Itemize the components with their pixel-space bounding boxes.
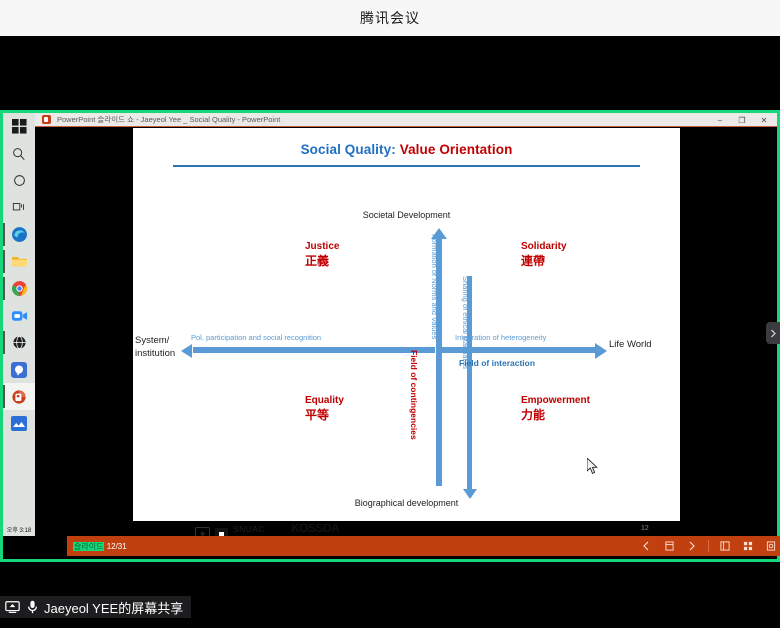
down-arrow-head (463, 489, 477, 499)
zoom-button[interactable] (3, 302, 35, 329)
cortana-button[interactable] (3, 167, 35, 194)
edge-browser-icon (11, 226, 28, 243)
presenter-notes-button[interactable] (715, 538, 735, 554)
shared-desktop: 오후 3:18 PowerPoint 슬라이드 쇼 - Jaeyeol Yee … (3, 113, 777, 559)
messenger-button[interactable] (3, 356, 35, 383)
slide-title-primary: Social Quality: (301, 142, 396, 157)
chat-app-icon (11, 362, 27, 378)
close-button[interactable]: ✕ (753, 113, 775, 127)
slide-counter-area: 슬라이드 12/31 (73, 541, 127, 552)
quadrant-justice: Justice 正義 (305, 239, 339, 269)
quadrant-justice-cn: 正義 (305, 254, 339, 269)
taskbar-running-indicator (3, 223, 5, 246)
windows-logo-icon (12, 119, 27, 134)
slideshow-statusbar[interactable]: 슬라이드 12/31 (67, 536, 780, 556)
globe-app-button[interactable] (3, 329, 35, 356)
taskbar-clock[interactable]: 오후 3:18 (3, 522, 35, 536)
edge-button[interactable] (3, 221, 35, 248)
quadrant-empowerment-cn: 力能 (521, 408, 590, 423)
axis-label-right: Life World (609, 339, 652, 350)
quadrant-justice-en: Justice (305, 239, 339, 254)
powerpoint-icon (11, 389, 27, 405)
slide-grid-button[interactable] (738, 538, 758, 554)
folder-icon (11, 254, 28, 269)
taskbar-running-indicator (3, 331, 5, 354)
right-arrow-head (595, 343, 607, 359)
taskbar-running-indicator (3, 277, 5, 300)
powerpoint-icon (42, 115, 51, 124)
panel-collapse-tab[interactable] (766, 322, 780, 344)
quadrant-equality: Equality 平等 (305, 393, 344, 423)
quadrant-empowerment-en: Empowerment (521, 393, 590, 408)
chrome-browser-icon (11, 280, 28, 297)
window-controls: – ❐ ✕ (709, 113, 775, 127)
next-slide-button[interactable] (682, 538, 702, 554)
quadrant-equality-en: Equality (305, 393, 344, 408)
chevron-right-icon (770, 329, 777, 338)
task-view-button[interactable] (3, 194, 35, 221)
magnify-slide-button[interactable] (761, 538, 780, 554)
caption-down-arrow: Sharing of ethical standards (461, 276, 470, 369)
screen-share-status-text: Jaeyeol YEE的屏幕共享 (44, 598, 183, 617)
start-button[interactable] (3, 113, 35, 140)
powerpoint-window: PowerPoint 슬라이드 쇼 - Jaeyeol Yee _ Social… (35, 113, 777, 536)
pen-tool-button[interactable] (659, 538, 679, 554)
slide-counter: 12/31 (107, 542, 127, 551)
minimize-button[interactable]: – (709, 113, 731, 127)
screen-share-icon (4, 600, 20, 614)
label-field-of-interaction: Field of interaction (459, 358, 535, 368)
taskbar-running-indicator (3, 250, 5, 273)
left-arrow-head (181, 344, 192, 358)
circle-icon (13, 174, 26, 187)
powerpoint-window-title: PowerPoint 슬라이드 쇼 - Jaeyeol Yee _ Social… (57, 114, 280, 125)
search-icon (12, 147, 26, 161)
slideshow-controls (636, 538, 780, 554)
globe-icon (12, 335, 27, 350)
photos-icon (11, 416, 27, 431)
slideshow-letterbox-left (35, 128, 133, 521)
kossda-logo-name: KOSSDA (291, 521, 339, 535)
axis-label-bottom: Biographical development (133, 498, 680, 508)
quadrant-empowerment: Empowerment 力能 (521, 393, 590, 423)
previous-slide-button[interactable] (636, 538, 656, 554)
left-arrow-shaft (193, 347, 435, 353)
video-camera-icon (11, 309, 28, 323)
caption-left-arrow: Pol. participation and social recognitio… (191, 333, 321, 342)
caption-up-arrow: Formation of Norms and Values (430, 234, 439, 339)
taskbar-running-indicator (3, 385, 5, 408)
file-explorer-button[interactable] (3, 248, 35, 275)
statusbar-divider (708, 540, 709, 552)
slide-title: Social Quality: Value Orientation (133, 142, 680, 157)
slide-page-number: 12 (641, 525, 649, 532)
microphone-icon (24, 600, 40, 614)
windows-taskbar[interactable]: 오후 3:18 (3, 113, 35, 536)
slideshow-letterbox-right (680, 128, 777, 521)
maximize-button[interactable]: ❐ (731, 113, 753, 127)
slide-label: 슬라이드 (73, 542, 104, 551)
slide-canvas[interactable]: Social Quality: Value Orientation Societ… (133, 128, 680, 521)
meeting-app-title: 腾讯会议 (360, 8, 420, 28)
axis-label-top: Societal Development (133, 210, 680, 220)
powerpoint-titlebar[interactable]: PowerPoint 슬라이드 쇼 - Jaeyeol Yee _ Social… (35, 113, 777, 127)
title-underline (173, 165, 640, 167)
powerpoint-button[interactable] (3, 383, 35, 410)
search-button[interactable] (3, 140, 35, 167)
snuac-logo-name: SNUAC (233, 524, 265, 534)
quadrant-solidarity: Solidarity 連帶 (521, 239, 567, 269)
chrome-button[interactable] (3, 275, 35, 302)
slide-title-secondary: Value Orientation (400, 142, 513, 157)
quadrant-solidarity-cn: 連帶 (521, 254, 567, 269)
meeting-titlebar: 腾讯会议 (0, 0, 780, 36)
quadrant-solidarity-en: Solidarity (521, 239, 567, 254)
photos-button[interactable] (3, 410, 35, 437)
label-field-of-contingencies: Field of contingencies (409, 350, 419, 440)
screen-share-status[interactable]: Jaeyeol YEE的屏幕共享 (0, 596, 191, 618)
task-view-icon (12, 201, 26, 214)
quadrant-equality-cn: 平等 (305, 408, 344, 423)
screen-root: 腾讯会议 (0, 0, 780, 628)
